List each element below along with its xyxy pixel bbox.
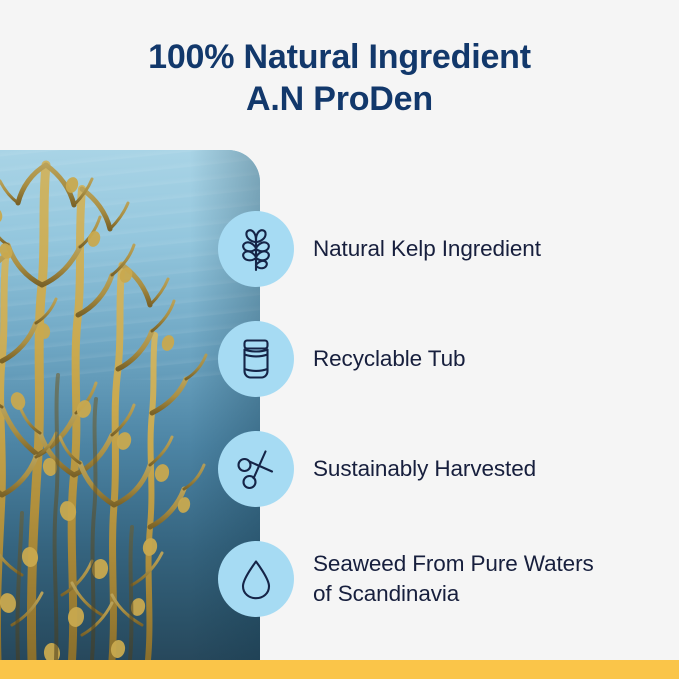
feature-item-natural-kelp: Natural Kelp Ingredient bbox=[0, 211, 679, 287]
tub-jar-icon bbox=[218, 321, 294, 397]
feature-label-natural-kelp: Natural Kelp Ingredient bbox=[313, 234, 663, 264]
title-line-1: 100% Natural Ingredient bbox=[0, 36, 679, 78]
footer-accent-bar bbox=[0, 660, 679, 679]
infographic-page: 100% Natural Ingredient A.N ProDen bbox=[0, 0, 679, 679]
feature-label-line-1: Natural Kelp Ingredient bbox=[313, 236, 541, 261]
scissors-icon bbox=[218, 431, 294, 507]
kelp-frond-icon bbox=[218, 211, 294, 287]
title-line-2: A.N ProDen bbox=[0, 78, 679, 120]
feature-item-recyclable-tub: Recyclable Tub bbox=[0, 321, 679, 397]
feature-list: Natural Kelp Ingredient Recyclable Tub bbox=[0, 150, 679, 660]
feature-label-line-1: Sustainably Harvested bbox=[313, 456, 536, 481]
feature-label-pure-waters: Seaweed From Pure Waters of Scandinavia bbox=[313, 549, 663, 609]
page-title: 100% Natural Ingredient A.N ProDen bbox=[0, 36, 679, 120]
water-droplet-icon bbox=[218, 541, 294, 617]
feature-item-pure-waters: Seaweed From Pure Waters of Scandinavia bbox=[0, 541, 679, 617]
feature-label-line-1: Recyclable Tub bbox=[313, 346, 465, 371]
feature-item-sustainably-harvested: Sustainably Harvested bbox=[0, 431, 679, 507]
feature-label-recyclable-tub: Recyclable Tub bbox=[313, 344, 663, 374]
feature-label-line-2: of Scandinavia bbox=[313, 579, 663, 609]
feature-label-line-1: Seaweed From Pure Waters bbox=[313, 551, 594, 576]
feature-label-sustainably-harvested: Sustainably Harvested bbox=[313, 454, 663, 484]
